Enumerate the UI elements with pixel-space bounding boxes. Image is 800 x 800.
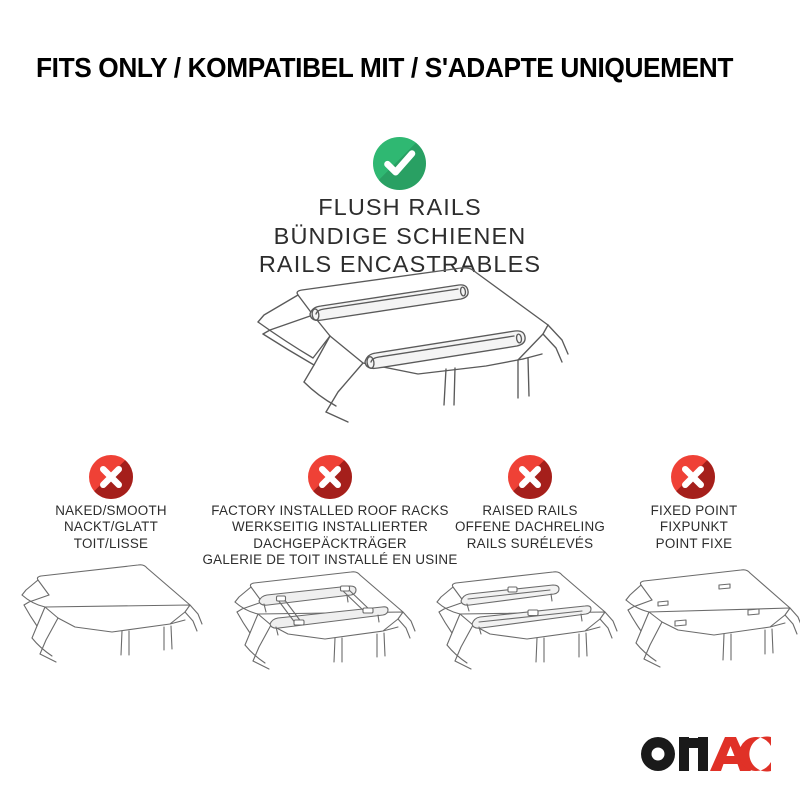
omac-logo (640, 736, 772, 772)
fixed-point-label-line-3: POINT FIXE (608, 536, 780, 552)
car-roof-raised-rails-illustration (424, 560, 620, 678)
naked-smooth-label-line-1: NAKED/SMOOTH (11, 503, 211, 519)
naked-smooth-label: NAKED/SMOOTH NACKT/GLATT TOIT/LISSE (11, 503, 211, 552)
flush-rails-label-line-2: BÜNDIGE SCHIENEN (0, 222, 800, 251)
flush-rails-label-line-1: FLUSH RAILS (0, 193, 800, 222)
logo-letter-o (641, 737, 675, 771)
red-cross-icon-factory-rack (308, 455, 352, 499)
car-roof-flush-rails-illustration (218, 262, 602, 428)
page-title: FITS ONLY / KOMPATIBEL MIT / S'ADAPTE UN… (36, 54, 743, 82)
car-roof-fixed-point-illustration (618, 560, 800, 678)
raised-rails-label-line-2: OFFENE DACHRELING (425, 519, 635, 535)
car-roof-naked-illustration (12, 556, 208, 676)
fixed-point-label-line-2: FIXPUNKT (608, 519, 780, 535)
naked-smooth-label-line-2: NACKT/GLATT (11, 519, 211, 535)
raised-rails-label-line-1: RAISED RAILS (425, 503, 635, 519)
red-cross-icon-naked-smooth (89, 455, 133, 499)
fixed-point-label-line-1: FIXED POINT (608, 503, 780, 519)
naked-smooth-label-line-3: TOIT/LISSE (11, 536, 211, 552)
green-check-icon (373, 137, 426, 190)
red-cross-icon-raised-rails (508, 455, 552, 499)
raised-rails-label: RAISED RAILS OFFENE DACHRELING RAILS SUR… (425, 503, 635, 552)
logo-letter-m (679, 737, 708, 771)
red-cross-icon-fixed-point (671, 455, 715, 499)
car-roof-factory-rack-illustration (222, 560, 418, 678)
raised-rails-label-line-3: RAILS SURÉLEVÉS (425, 536, 635, 552)
fixed-point-label: FIXED POINT FIXPUNKT POINT FIXE (608, 503, 780, 552)
